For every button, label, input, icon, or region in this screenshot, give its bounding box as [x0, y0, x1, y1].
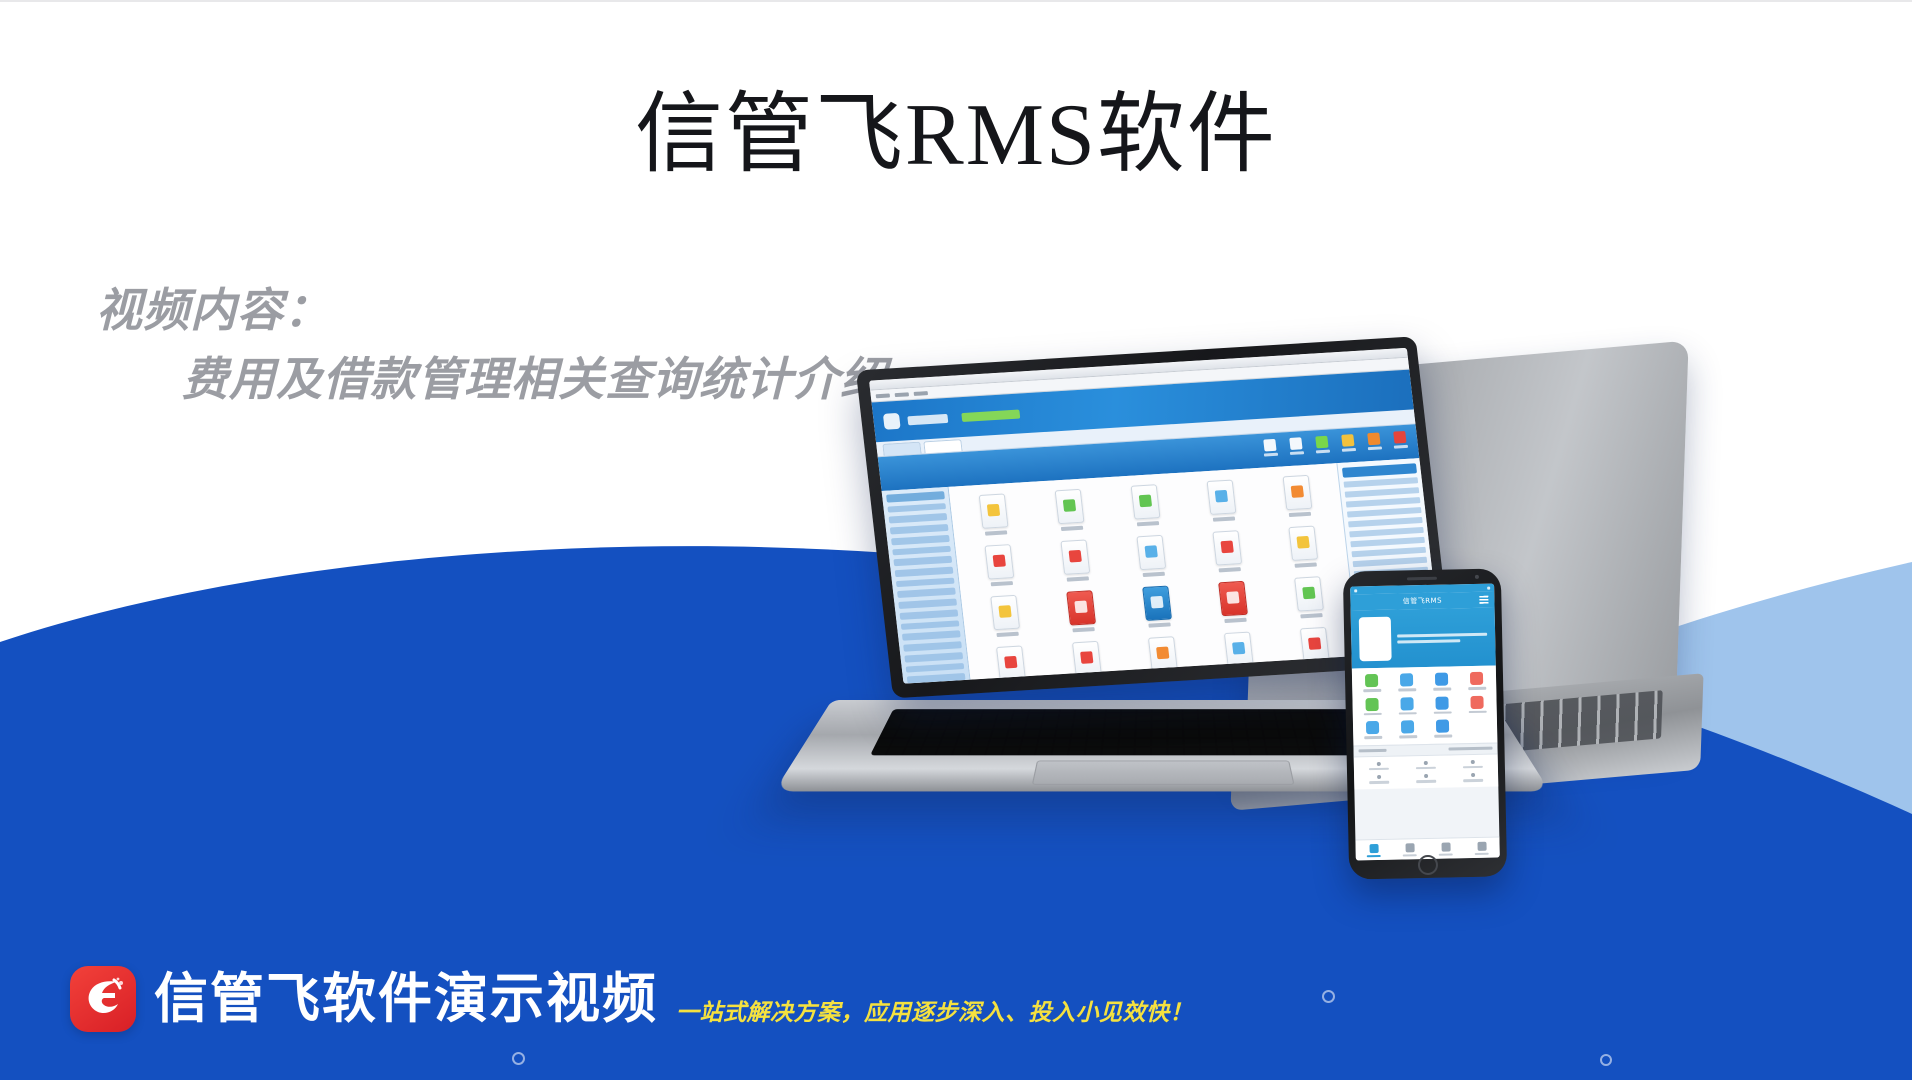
app-logo-icon: [883, 413, 901, 430]
sidebar-item: [896, 577, 955, 587]
decorative-dot: [1600, 1054, 1612, 1066]
app-icon-grid: [949, 463, 1359, 679]
subtitle-block: 视频内容： 费用及借款管理相关查询统计介绍: [96, 280, 887, 409]
panel-header: [1342, 463, 1417, 477]
sidebar-item: [890, 524, 949, 534]
sidebar-item: [898, 599, 957, 609]
phone-illustration-icon: [1359, 617, 1392, 662]
sidebar-item: [886, 491, 945, 502]
phone-grid-item[interactable]: [1355, 697, 1388, 715]
toolbar-button: [1313, 436, 1330, 459]
sidebar-item: [902, 631, 961, 641]
toolbar-button: [1287, 437, 1304, 460]
presentation-slide: 信管飞RMS软件 视频内容： 费用及借款管理相关查询统计介绍: [0, 0, 1912, 1080]
brand-tagline: 一站式解决方案，应用逐步深入、投入小见效快！: [676, 993, 1193, 1027]
phone-stat-item: [1450, 773, 1495, 782]
slide-title: 信管飞RMS软件: [0, 88, 1912, 183]
sidebar-item: [906, 663, 965, 673]
phone-speaker-icon: [1407, 577, 1437, 581]
app-tile: [1049, 639, 1126, 679]
sidebar-item: [889, 513, 948, 523]
phone-stat-item: [1450, 759, 1495, 768]
app-tab: [882, 442, 921, 456]
app-tile: [1125, 635, 1202, 680]
phone-home-button-icon[interactable]: [1418, 855, 1438, 875]
phone-camera-icon: [1475, 575, 1479, 579]
app-tile: [1108, 483, 1185, 528]
app-tile: [1195, 579, 1272, 624]
app-tile: [1189, 529, 1266, 574]
toolbar-button: [1391, 431, 1408, 454]
app-tile: [1260, 473, 1337, 518]
panel-row: [1345, 487, 1420, 497]
app-tile: [1265, 524, 1342, 569]
menu-icon[interactable]: [1479, 596, 1488, 604]
app-tile: [1271, 575, 1348, 620]
phone-grid-item: [1461, 719, 1494, 737]
app-tile: [1201, 630, 1278, 675]
panel-row: [1349, 527, 1424, 537]
footer-brand-bar: 信管飞软件演示视频 一站式解决方案，应用逐步深入、投入小见效快！: [70, 966, 1193, 1032]
sidebar-item: [887, 503, 946, 513]
sidebar-item: [895, 567, 954, 577]
menu-item: [895, 392, 909, 397]
panel-row: [1346, 497, 1421, 507]
sidebar-item: [892, 545, 951, 555]
phone-stat-item: [1404, 774, 1449, 783]
sidebar-item: [907, 673, 966, 683]
flying-bird-logo-icon: [70, 966, 136, 1032]
phone-tab-home[interactable]: [1355, 840, 1391, 861]
subtitle-label: 视频内容：: [96, 280, 887, 341]
app-banner-title: [907, 413, 948, 424]
phone-grid-item[interactable]: [1355, 674, 1388, 692]
panel-row: [1350, 537, 1425, 547]
phone-grid-item[interactable]: [1460, 695, 1493, 713]
phone-stat-item: [1357, 761, 1402, 770]
sidebar-item: [903, 641, 962, 651]
subtitle-topic: 费用及借款管理相关查询统计介绍: [182, 349, 887, 410]
mobile-app-screen-icon: 信管飞RMS: [1350, 584, 1500, 861]
panel-row: [1348, 517, 1423, 527]
phone-grid-item[interactable]: [1425, 672, 1458, 690]
brand-name: 信管飞软件演示视频: [154, 972, 658, 1026]
sidebar-item: [893, 556, 952, 566]
sidebar-item: [891, 535, 950, 545]
phone-app-header: 信管飞RMS: [1350, 592, 1494, 611]
menu-item: [876, 393, 890, 398]
phone-stats-grid: [1354, 754, 1499, 789]
panel-row: [1344, 477, 1419, 487]
phone-banner: [1351, 608, 1496, 669]
panel-row: [1347, 507, 1422, 517]
phone-device: 信管飞RMS: [1343, 568, 1507, 879]
device-mockup-group: 信管飞RMS: [880, 382, 1912, 942]
phone-grid-item[interactable]: [1390, 673, 1423, 691]
sidebar-item: [897, 588, 956, 598]
phone-grid-item[interactable]: [1460, 672, 1493, 690]
app-tile: [1037, 538, 1114, 583]
app-banner-highlight: [961, 409, 1020, 421]
toolbar-button: [1261, 439, 1278, 462]
app-tile: [961, 543, 1038, 588]
decorative-dot: [512, 1052, 525, 1065]
app-tile: [1032, 487, 1109, 532]
panel-row: [1351, 547, 1426, 557]
app-tile: [967, 593, 1044, 638]
toolbar-button: [1339, 434, 1356, 457]
panel-row: [1353, 557, 1428, 567]
phone-tab-profile[interactable]: [1463, 837, 1499, 858]
menu-item: [914, 391, 928, 396]
app-tile: [956, 492, 1033, 537]
phone-stat-item: [1357, 774, 1402, 783]
phone-app-title: 信管飞RMS: [1403, 596, 1443, 607]
app-tile: [1043, 589, 1120, 634]
phone-grid-item[interactable]: [1356, 721, 1389, 739]
phone-banner-text: [1397, 632, 1487, 643]
phone-grid-item[interactable]: [1426, 719, 1459, 737]
app-tile: [1113, 533, 1190, 578]
app-tile: [1119, 584, 1196, 629]
app-tile: [1184, 478, 1261, 523]
phone-stat-item: [1403, 760, 1448, 769]
sidebar-item: [901, 620, 960, 630]
app-tab: [923, 439, 962, 453]
phone-icon-grid: [1352, 666, 1498, 745]
app-tile: [1277, 625, 1354, 670]
phone-grid-item[interactable]: [1390, 697, 1423, 715]
phone-grid-item[interactable]: [1425, 696, 1458, 714]
sidebar-item: [904, 652, 963, 662]
decorative-dot: [1322, 990, 1335, 1003]
toolbar-button: [1365, 432, 1382, 455]
app-tile: [973, 644, 1050, 680]
phone-grid-item[interactable]: [1391, 720, 1424, 738]
sidebar-item: [900, 609, 959, 619]
